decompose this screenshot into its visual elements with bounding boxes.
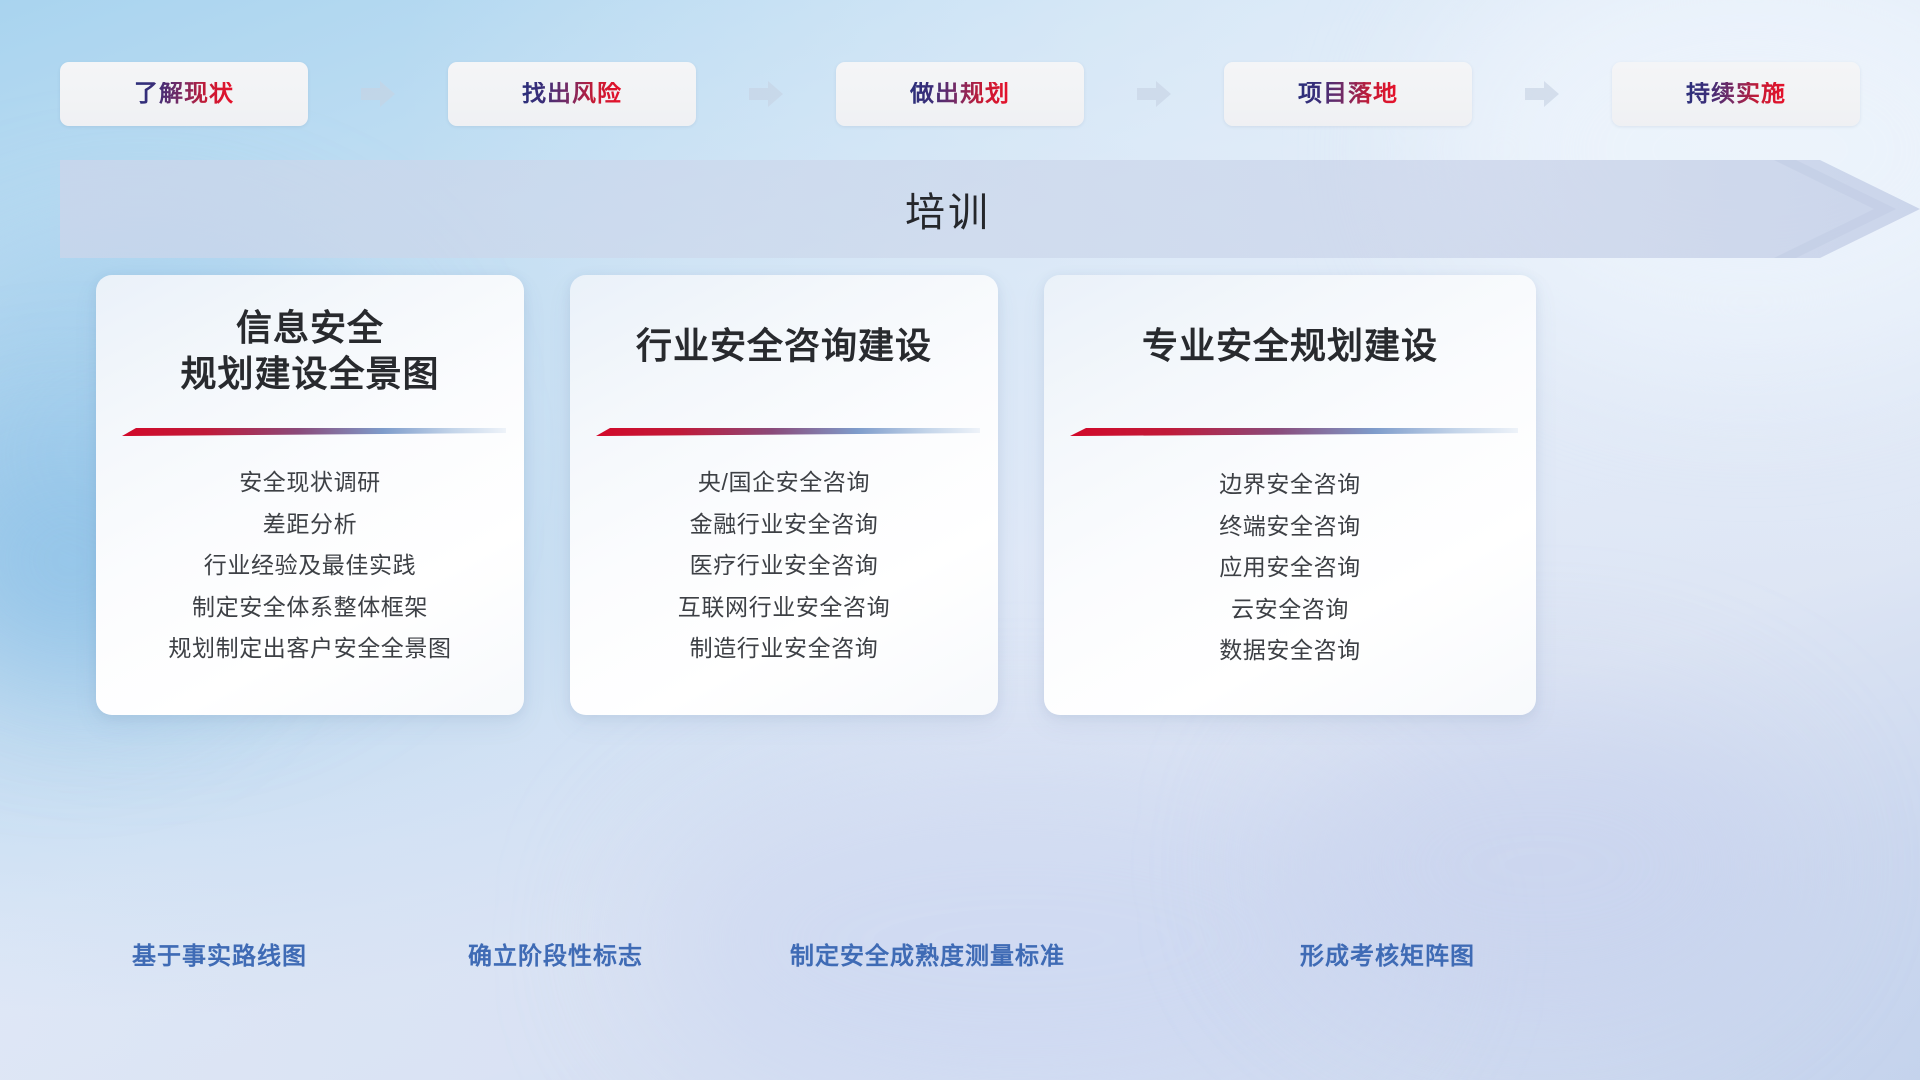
caption-label: 形成考核矩阵图 [1300, 945, 1475, 969]
list-item: 边界安全咨询 [1058, 473, 1522, 496]
right-arrow-icon [1137, 79, 1171, 109]
list-item: 互联网行业安全咨询 [584, 596, 984, 619]
list-item: 行业经验及最佳实践 [110, 554, 510, 577]
list-item: 安全现状调研 [110, 471, 510, 494]
card-item-list: 央/国企安全咨询 金融行业安全咨询 医疗行业安全咨询 互联网行业安全咨询 制造行… [584, 471, 984, 679]
caption-label: 确立阶段性标志 [468, 945, 643, 969]
card-divider [1070, 427, 1518, 436]
background-glow-bottom [640, 760, 1400, 1080]
list-item: 差距分析 [110, 513, 510, 536]
training-band: 培训 [60, 160, 1920, 258]
process-step-flow: 了解现状 找出风险 做出规划 项目落地 持续实施 [60, 62, 1860, 126]
step-chip-2[interactable]: 做出规划 [836, 62, 1084, 126]
card-information-security-blueprint[interactable]: 信息安全 规划建设全景图 [96, 275, 524, 715]
right-arrow-icon [361, 79, 395, 109]
card-group: 信息安全 规划建设全景图 [96, 275, 1536, 715]
list-item: 云安全咨询 [1058, 598, 1522, 621]
caption-label: 基于事实路线图 [132, 945, 307, 969]
step-chip-3[interactable]: 项目落地 [1224, 62, 1472, 126]
card-item-list: 边界安全咨询 终端安全咨询 应用安全咨询 云安全咨询 数据安全咨询 [1058, 473, 1522, 681]
card-professional-security-planning[interactable]: 专业安全规划建设 [1044, 275, 1536, 715]
training-band-label: 培训 [60, 160, 1920, 258]
caption-row: 基于事实路线图 确立阶段性标志 制定安全成熟度测量标准 形成考核矩阵图 [0, 945, 1920, 985]
list-item: 制定安全体系整体框架 [110, 596, 510, 619]
list-item: 制造行业安全咨询 [584, 637, 984, 660]
card-title: 行业安全咨询建设 [570, 323, 998, 369]
card-divider [122, 427, 506, 436]
right-arrow-icon [1525, 79, 1559, 109]
right-arrow-icon [749, 79, 783, 109]
list-item: 数据安全咨询 [1058, 639, 1522, 662]
step-chip-label: 持续实施 [1686, 82, 1786, 106]
card-item-list: 安全现状调研 差距分析 行业经验及最佳实践 制定安全体系整体框架 规划制定出客户… [110, 471, 510, 679]
list-item: 规划制定出客户安全全景图 [110, 637, 510, 660]
list-item: 金融行业安全咨询 [584, 513, 984, 536]
step-chip-label: 找出风险 [522, 82, 622, 106]
step-chip-label: 做出规划 [910, 82, 1010, 106]
slide-canvas: 了解现状 找出风险 做出规划 项目落地 持续实施 [0, 0, 1920, 1080]
step-chip-0[interactable]: 了解现状 [60, 62, 308, 126]
list-item: 央/国企安全咨询 [584, 471, 984, 494]
step-chip-1[interactable]: 找出风险 [448, 62, 696, 126]
card-divider [596, 427, 980, 436]
card-title: 信息安全 规划建设全景图 [96, 305, 524, 397]
list-item: 终端安全咨询 [1058, 515, 1522, 538]
step-chip-4[interactable]: 持续实施 [1612, 62, 1860, 126]
caption-label: 制定安全成熟度测量标准 [790, 945, 1065, 969]
list-item: 医疗行业安全咨询 [584, 554, 984, 577]
card-industry-security-consulting[interactable]: 行业安全咨询建设 [570, 275, 998, 715]
step-chip-label: 了解现状 [134, 82, 234, 106]
card-title: 专业安全规划建设 [1044, 323, 1536, 369]
step-chip-label: 项目落地 [1298, 82, 1398, 106]
list-item: 应用安全咨询 [1058, 556, 1522, 579]
